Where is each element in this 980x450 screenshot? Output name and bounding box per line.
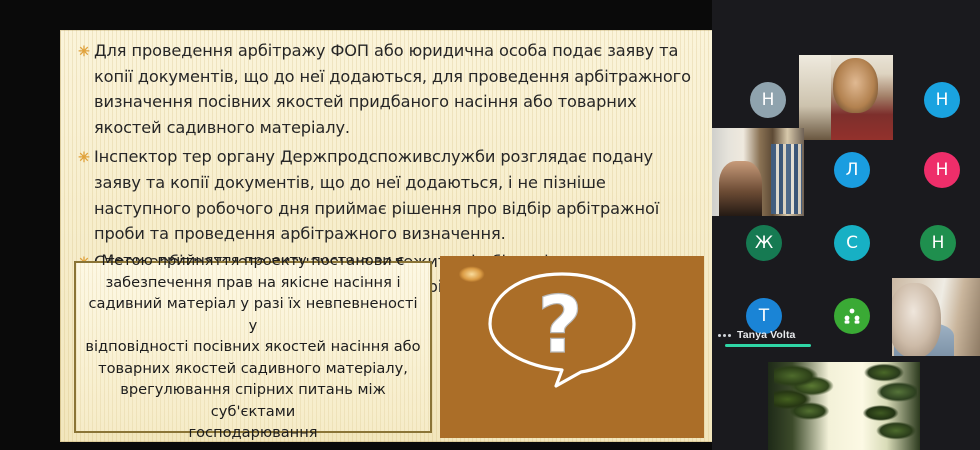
participant-avatar[interactable]: Н [924, 152, 960, 188]
participant-video-tile[interactable] [799, 55, 893, 140]
participant-avatar[interactable]: Н [920, 225, 956, 261]
participant-video-tile[interactable] [768, 362, 920, 450]
people-group-icon[interactable] [834, 298, 870, 334]
participant-video-feed [799, 55, 893, 140]
wheat-seeds-photo: ? [440, 256, 704, 438]
avatar-initial: Л [846, 160, 859, 180]
slide-bullet-item: ✳ Інспектор тер органу Держпродспоживслу… [74, 144, 702, 246]
participant-video-feed [712, 128, 804, 216]
slide-bullet-text: Для проведення арбітражу ФОП або юридичн… [94, 38, 702, 142]
participant-avatar[interactable]: Н [750, 82, 786, 118]
bullet-marker-icon: ✳ [74, 38, 94, 64]
participant-video-tile[interactable] [892, 278, 980, 356]
avatar-initial: Н [932, 233, 945, 253]
active-speaker-name-bar[interactable]: Tanya Volta [718, 329, 795, 341]
svg-text:?: ? [537, 281, 582, 371]
avatar-initial: С [846, 233, 858, 253]
slide-bullet-text: Інспектор тер органу Держпродспоживслужб… [94, 144, 702, 246]
participant-avatar[interactable]: Н [924, 82, 960, 118]
bullet-marker-icon: ✳ [74, 144, 94, 170]
active-speaker-name: Tanya Volta [737, 329, 795, 341]
participant-video-feed [768, 362, 920, 450]
slide-bullet-item: ✳ Для проведення арбітражу ФОП або юриди… [74, 38, 702, 142]
slide-callout-box: Метою прийняття проекту постанови є забе… [74, 261, 432, 433]
participant-video-feed [892, 278, 980, 356]
presentation-slide[interactable]: ✳ Для проведення арбітражу ФОП або юриди… [60, 30, 712, 442]
avatar-initial: Т [759, 306, 769, 326]
participant-avatar[interactable]: С [834, 225, 870, 261]
avatar-initial: Ж [755, 233, 773, 253]
participant-avatar[interactable]: Ж [746, 225, 782, 261]
slide-callout-text: Метою прийняття проекту постанови є забе… [84, 250, 422, 442]
avatar-initial: Н [936, 160, 949, 180]
participant-avatar[interactable]: Л [834, 152, 870, 188]
speaking-indicator-bar [725, 344, 811, 347]
question-mark-speech-bubble-icon: ? [486, 270, 638, 388]
avatar-initial: Н [936, 90, 949, 110]
video-conference-screen: ✳ Для проведення арбітражу ФОП або юриди… [0, 0, 980, 450]
participant-video-tile[interactable] [712, 128, 804, 216]
three-dots-icon[interactable] [718, 334, 731, 337]
participant-gallery[interactable]: Н Н Л Н Ж С Н Т [712, 0, 980, 450]
shared-screen-stage[interactable]: ✳ Для проведення арбітражу ФОП або юриди… [0, 0, 712, 450]
avatar-initial: Н [762, 90, 775, 110]
